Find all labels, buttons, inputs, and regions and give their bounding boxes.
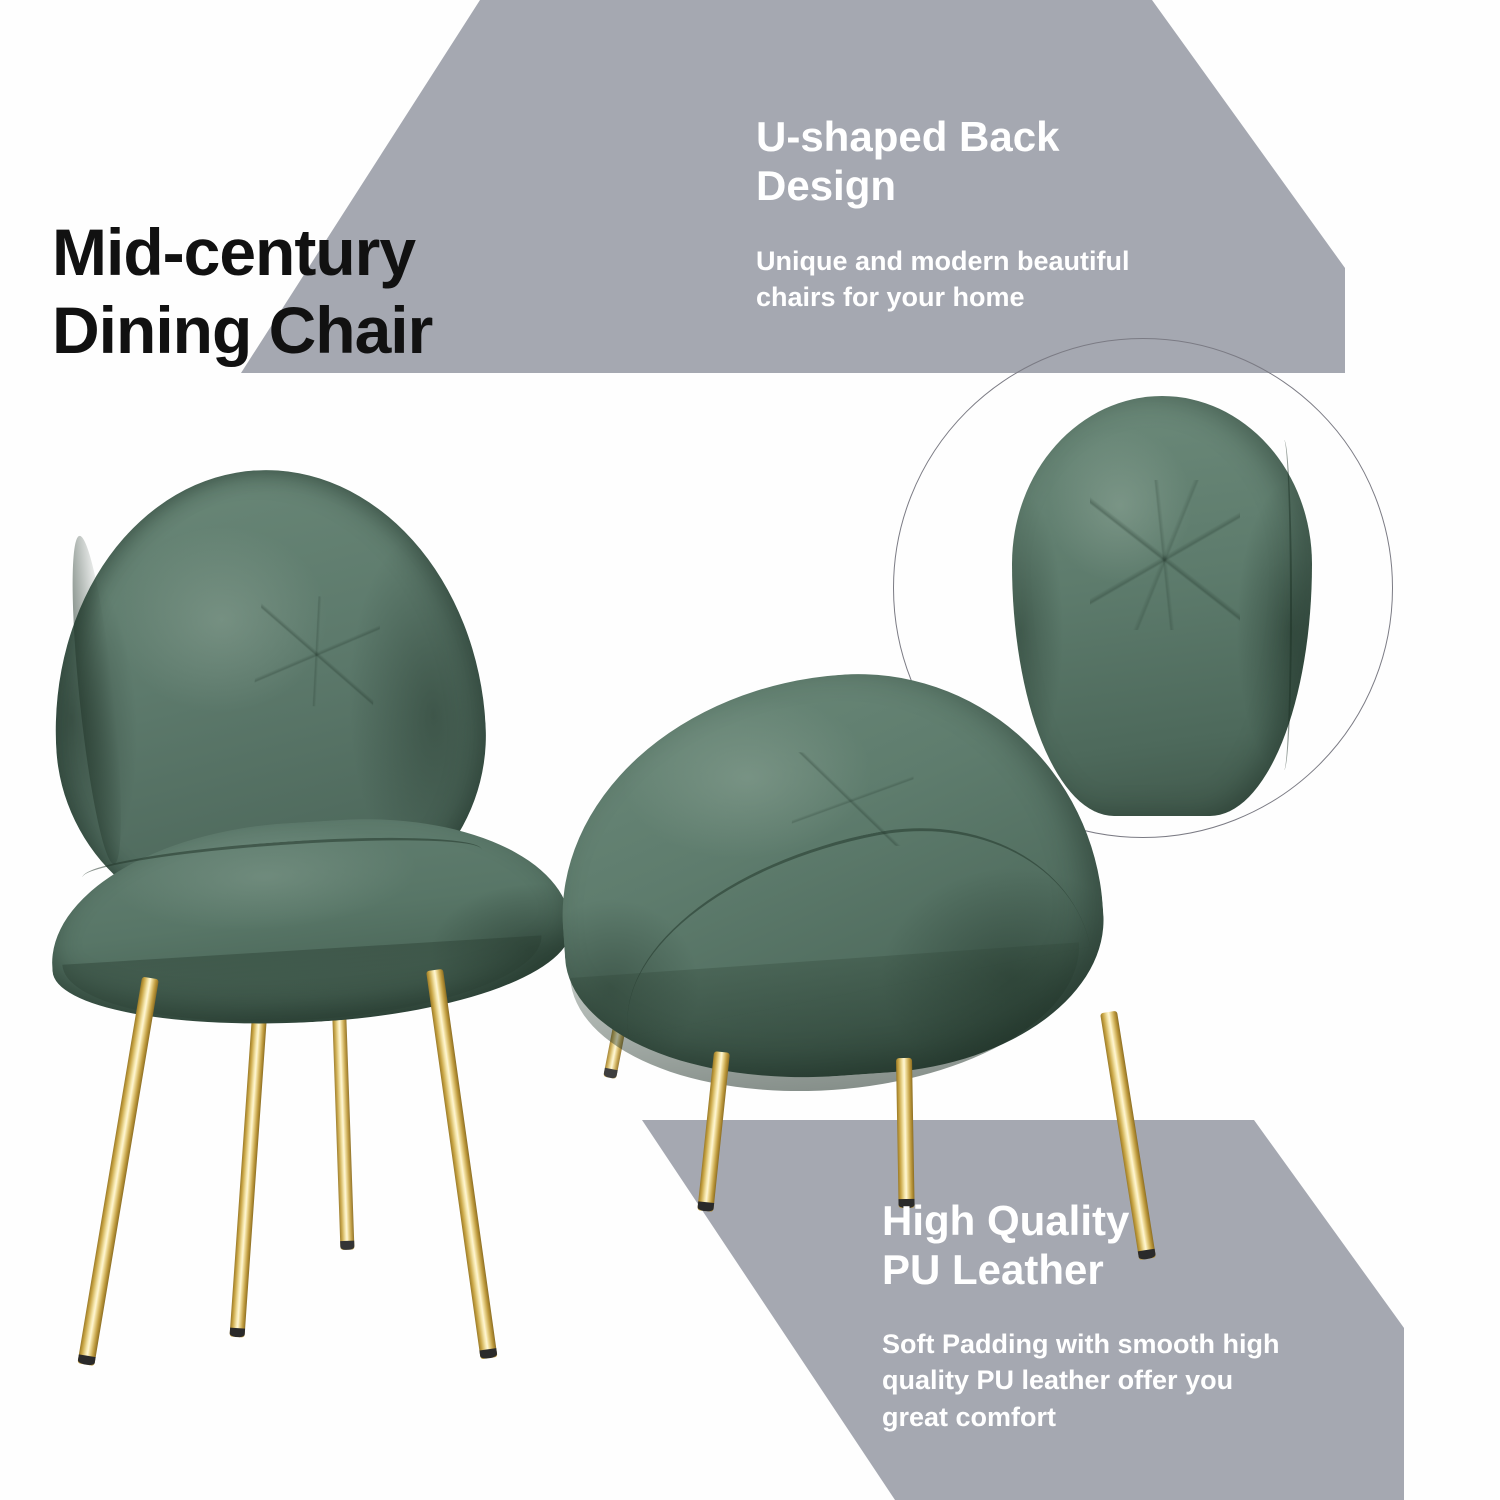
product-infographic: Mid-century Dining Chair U-shaped Back D… xyxy=(0,0,1500,1500)
backrest-edge-shadow xyxy=(63,534,131,866)
chair-leg xyxy=(426,969,497,1360)
feature-body-pu-leather: Soft Padding with smooth high quality PU… xyxy=(882,1326,1312,1435)
chair-leg xyxy=(896,1058,915,1208)
chair-backrest-closeup xyxy=(1012,396,1312,816)
feature-title-u-shaped-back: U-shaped Back Design xyxy=(756,112,1226,210)
leather-texture xyxy=(1090,480,1240,630)
backrest-stitch-seam xyxy=(1276,440,1292,770)
page-title: Mid-century Dining Chair xyxy=(52,214,572,370)
feature-title-pu-leather: High Quality PU Leather xyxy=(882,1196,1352,1294)
chair-side-view-image xyxy=(30,450,590,1400)
feature-body-u-shaped-back: Unique and modern beautiful chairs for y… xyxy=(756,243,1186,316)
leather-texture xyxy=(253,591,382,711)
chair-leg xyxy=(77,977,158,1366)
